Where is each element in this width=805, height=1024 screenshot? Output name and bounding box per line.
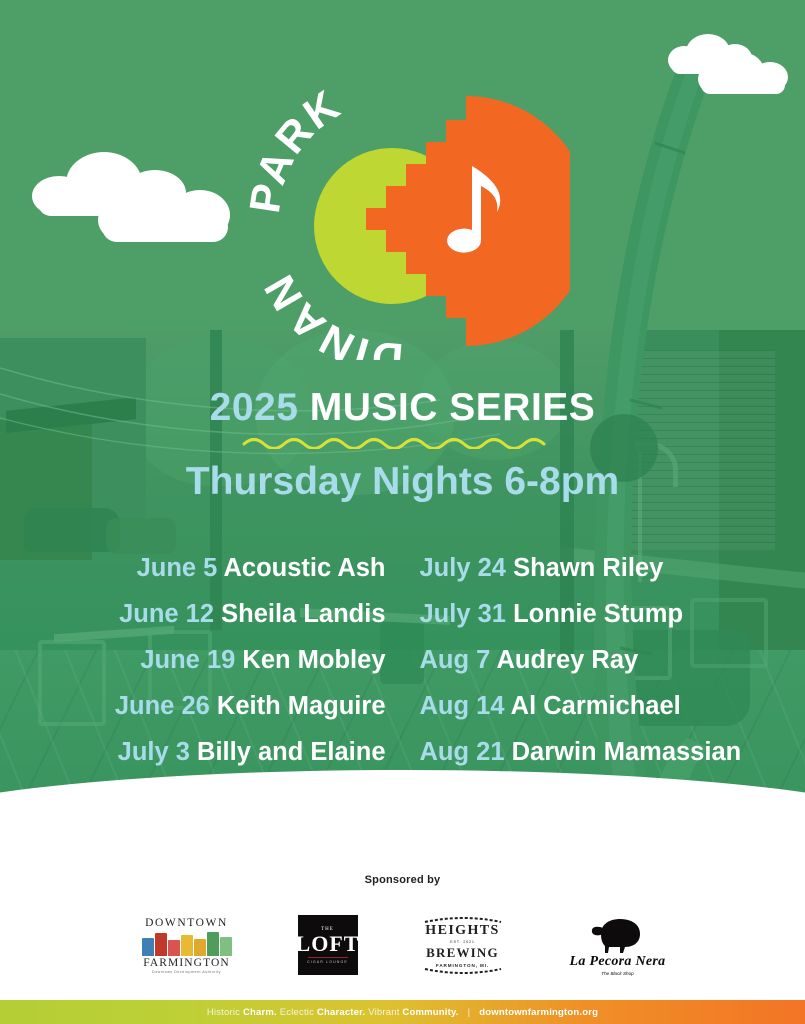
footer-separator: | (468, 1007, 471, 1018)
squiggle-divider-icon (242, 436, 564, 449)
series-heading: 2025 MUSIC SERIES (0, 388, 805, 427)
hb-line2: BREWING (426, 945, 499, 961)
lineup-artist: Audrey Ray (490, 646, 638, 674)
lineup-artist: Billy and Elaine (190, 738, 386, 766)
lineup-date: July 31 (420, 600, 506, 628)
lineup-artist: Darwin Mamassian (505, 738, 742, 766)
footer-bar: Historic Charm. Eclectic Character. Vibr… (0, 1000, 805, 1024)
lineup-row: July 3 Billy and Elaine (118, 729, 386, 775)
lineup-date: Aug 21 (420, 738, 505, 766)
lineup-row: July 24 Shawn Riley (420, 545, 664, 591)
dt-line1: DOWNTOWN (145, 917, 228, 929)
lineup-row: June 26 Keith Maguire (115, 683, 386, 729)
lineup-date: July 24 (420, 554, 506, 582)
lineup-row: Aug 14 Al Carmichael (420, 683, 681, 729)
sponsor-logo-downtown-farmington[interactable]: DOWNTOWN FARMINGTON Downtown Development… (138, 917, 236, 974)
footer-part1-bold: Charm. (243, 1007, 277, 1018)
lineup-artist: Ken Mobley (235, 646, 385, 674)
lpn-tagline: The Black Shop (601, 971, 633, 976)
cloud-right-front-icon (698, 52, 790, 98)
footer-website-link[interactable]: downtownfarmington.org (479, 1007, 598, 1018)
lineup-date: July 3 (118, 738, 190, 766)
footer-part2-light: Eclectic (277, 1007, 317, 1018)
lineup-artist: Keith Maguire (210, 692, 386, 720)
footer-part1-light: Historic (207, 1007, 243, 1018)
hb-line1: HEIGHTS (425, 923, 499, 939)
lineup-row: July 31 Lonnie Stump (420, 591, 684, 637)
sponsor-logo-la-pecora-nera[interactable]: La Pecora Nera The Black Shop (568, 914, 668, 976)
sponsor-logo-row: DOWNTOWN FARMINGTON Downtown Development… (0, 914, 805, 976)
footer-part3-bold: Community. (402, 1007, 458, 1018)
hb-bottom-banner-icon (423, 968, 503, 974)
lineup-row: June 5 Acoustic Ash (137, 545, 386, 591)
sponsored-by-label: Sponsored by (0, 874, 805, 886)
lineup-date: June 26 (115, 692, 210, 720)
sponsor-logo-heights-brewing[interactable]: HEIGHTS EST. 2021 BREWING FARMINGTON, MI… (420, 917, 506, 974)
lineup-artist: Lonnie Stump (506, 600, 683, 628)
lineup-date: June 12 (119, 600, 214, 628)
series-title: MUSIC SERIES (310, 386, 596, 429)
event-poster: PARK DINAN 2025 MUSIC SERIES Thursday Ni… (0, 0, 805, 1024)
cloud-left-front-icon (98, 178, 236, 244)
lineup-row: Aug 21 Darwin Mamassian (420, 729, 742, 775)
lineup-row: June 12 Sheila Landis (119, 591, 385, 637)
lpn-name: La Pecora Nera (570, 954, 666, 970)
lineup-row: June 19 Ken Mobley (140, 637, 385, 683)
footer-part2-bold: Character. (317, 1007, 365, 1018)
heading-block: 2025 MUSIC SERIES Thursday Nights 6-8pm (0, 388, 805, 501)
footer-text: Historic Charm. Eclectic Character. Vibr… (207, 1007, 598, 1018)
lineup-date: June 5 (137, 554, 218, 582)
lineup-date: Aug 14 (420, 692, 505, 720)
loft-tagline: CIGAR LOUNGE (307, 960, 348, 964)
dt-buildings-icon (142, 930, 232, 956)
lineup-artist: Acoustic Ash (217, 554, 385, 582)
dt-tagline: Downtown Development Authority (152, 970, 221, 974)
series-year: 2025 (210, 386, 299, 429)
schedule-heading: Thursday Nights 6-8pm (0, 462, 805, 501)
dt-line2: FARMINGTON (143, 957, 230, 969)
lineup-date: June 19 (140, 646, 235, 674)
sponsor-logo-the-loft[interactable]: THE LOFT CIGAR LOUNGE (298, 915, 358, 975)
lineup-date: Aug 7 (420, 646, 491, 674)
lineup-artist: Al Carmichael (505, 692, 681, 720)
lineup-row: Aug 7 Audrey Ray (420, 637, 639, 683)
lineup-artist: Sheila Landis (214, 600, 385, 628)
hb-est: EST. 2021 (450, 940, 475, 944)
footer-part3-light: Vibrant (365, 1007, 402, 1018)
lineup-artist: Shawn Riley (506, 554, 663, 582)
loft-line2: LOFT (296, 933, 360, 955)
dinan-park-logo: PARK DINAN (240, 60, 570, 360)
sheep-icon (587, 914, 649, 954)
